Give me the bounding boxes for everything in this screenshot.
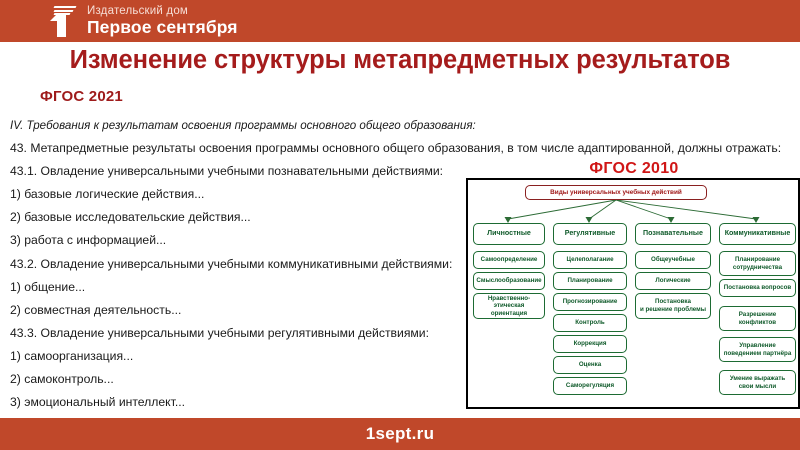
slide: Издательский дом Первое сентября Изменен… xyxy=(0,0,800,450)
text-line: IV. Требования к результатам освоения пр… xyxy=(10,114,796,137)
uud-hierarchy-diagram: Виды универсальных учебных действий Личн… xyxy=(466,178,800,409)
diagram-sub-node: Оценка xyxy=(553,356,627,374)
diagram-sub-node: Саморегуляция xyxy=(553,377,627,395)
diagram-sub-node: Целеполагание xyxy=(553,251,627,269)
diagram-sub-node: Умение выражать свои мысли xyxy=(719,370,796,395)
brand-logo-text: Издательский дом Первое сентября xyxy=(87,5,238,37)
diagram-sub-node: Постановка вопросов xyxy=(719,279,796,297)
diagram-root-node: Виды универсальных учебных действий xyxy=(525,185,707,200)
fgos-2021-label: ФГОС 2021 xyxy=(40,88,123,105)
footer-bar: 1sept.ru xyxy=(0,418,800,450)
diagram-sub-node: Контроль xyxy=(553,314,627,332)
diagram-sub-node: Прогнозирование xyxy=(553,293,627,311)
brand-logo: Издательский дом Первое сентября xyxy=(48,5,238,37)
diagram-sub-node: Планирование xyxy=(553,272,627,290)
diagram-category-node: Коммуникативные xyxy=(719,223,796,245)
diagram-sub-node: Самоопределение xyxy=(473,251,545,269)
brand-line-2: Первое сентября xyxy=(87,18,238,37)
diagram-sub-node: Логические xyxy=(635,272,711,290)
diagram-sub-node: Разрешение конфликтов xyxy=(719,306,796,331)
diagram-category-node: Познавательные xyxy=(635,223,711,245)
footer-website-label: 1sept.ru xyxy=(366,424,435,444)
diagram-sub-node: Нравственно- этическая ориентация xyxy=(473,293,545,319)
header-bar: Издательский дом Первое сентября xyxy=(0,0,800,42)
text-line: 43. Метапредметные результаты освоения п… xyxy=(10,137,796,160)
diagram-sub-node: Постановка и решение проблемы xyxy=(635,293,711,319)
publishing-house-logo-icon xyxy=(48,5,78,37)
diagram-category-node: Регулятивные xyxy=(553,223,627,245)
diagram-sub-node: Смыслообразование xyxy=(473,272,545,290)
diagram-sub-node: Общеучебные xyxy=(635,251,711,269)
page-title: Изменение структуры метапредметных резул… xyxy=(0,46,800,75)
diagram-sub-node: Коррекция xyxy=(553,335,627,353)
diagram-category-node: Личностные xyxy=(473,223,545,245)
diagram-sub-node: Планирование сотрудничества xyxy=(719,251,796,276)
fgos-2010-label: ФГОС 2010 xyxy=(466,160,800,178)
diagram-sub-node: Управление поведением партнёра xyxy=(719,337,796,362)
